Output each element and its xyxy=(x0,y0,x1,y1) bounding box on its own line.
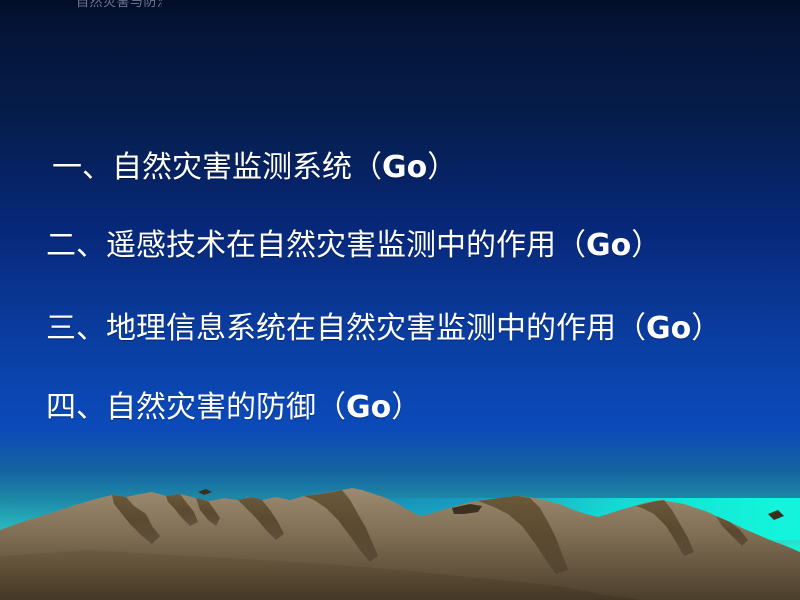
outline-item-3-paren-open: （ xyxy=(616,311,646,346)
outline-item-1-go-link[interactable]: Go xyxy=(382,150,427,185)
outline-item-4-paren-close: ） xyxy=(391,390,421,425)
outline-item-2-text: 遥感技术在自然灾害监测中的作用 xyxy=(106,228,556,263)
mountain-crag-mark-2 xyxy=(768,510,784,520)
outline-item-1-text: 自然灾害监测系统 xyxy=(112,150,352,185)
outline-item-2-index: 二、 xyxy=(46,228,106,263)
outline-item-1-paren-open: （ xyxy=(352,150,382,185)
outline-item-2[interactable]: 二、遥感技术在自然灾害监测中的作用（Go） xyxy=(46,220,661,264)
outline-item-4[interactable]: 四、自然灾害的防御（Go） xyxy=(46,382,421,426)
outline-item-4-paren-open: （ xyxy=(316,390,346,425)
outline-item-1[interactable]: 一、自然灾害监测系统（Go） xyxy=(52,142,457,186)
outline-item-3-text: 地理信息系统在自然灾害监测中的作用 xyxy=(106,311,616,346)
outline-item-4-go-link[interactable]: Go xyxy=(346,390,391,425)
mountain-range-illustration xyxy=(0,470,800,600)
outline-item-2-paren-open: （ xyxy=(556,228,586,263)
outline-item-2-paren-close: ） xyxy=(631,228,661,263)
outline-item-3-index: 三、 xyxy=(46,311,106,346)
outline-item-3-go-link[interactable]: Go xyxy=(646,311,691,346)
outline-item-4-index: 四、 xyxy=(46,390,106,425)
slide-canvas: 自然灾害与防治 一、自然灾害监测系统（Go） 二、遥感技术在自然灾害监测中的作用… xyxy=(0,0,800,600)
outline-item-2-go-link[interactable]: Go xyxy=(586,228,631,263)
outline-item-1-index: 一、 xyxy=(52,150,112,185)
top-watermark-text: 自然灾害与防治 xyxy=(76,0,162,9)
outline-item-3-paren-close: ） xyxy=(691,311,721,346)
mountain-crag-mark-1 xyxy=(198,489,212,495)
outline-item-1-paren-close: ） xyxy=(427,150,457,185)
outline-item-4-text: 自然灾害的防御 xyxy=(106,390,316,425)
outline-item-3[interactable]: 三、地理信息系统在自然灾害监测中的作用（Go） xyxy=(46,303,721,347)
